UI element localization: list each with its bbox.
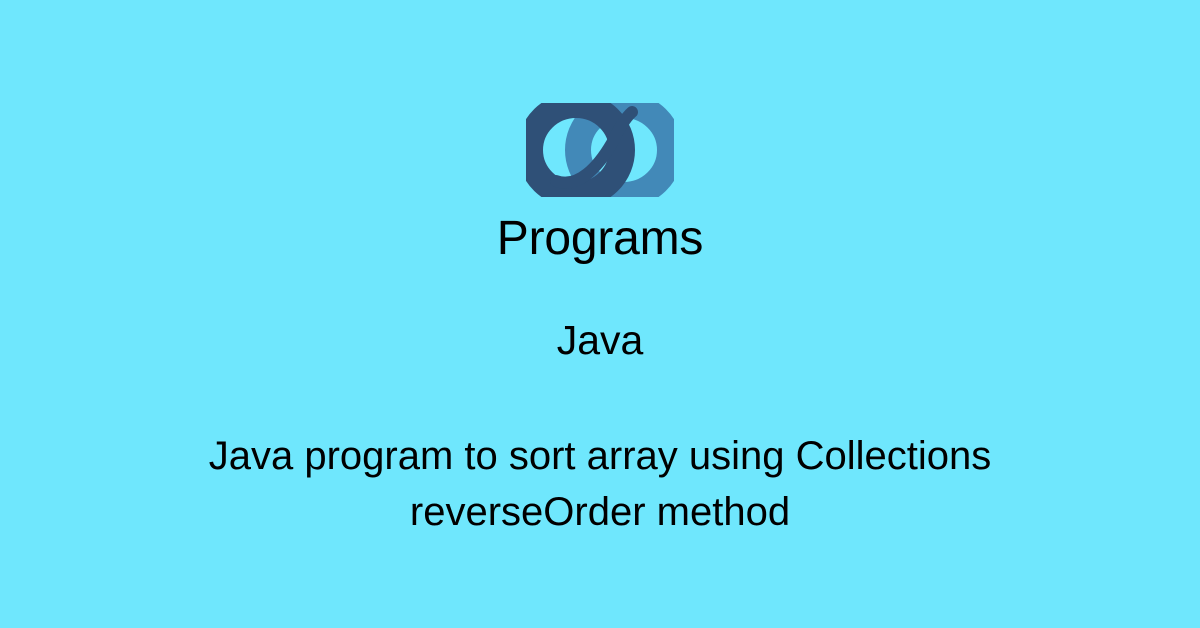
headline-line-1: Java program to sort array using Collect… xyxy=(60,428,1140,484)
social-share-card: Programs Java Java program to sort array… xyxy=(0,0,1200,628)
headline-line-2: reverseOrder method xyxy=(60,484,1140,540)
brand-title: Programs xyxy=(0,211,1200,267)
category-label: Java xyxy=(0,315,1200,365)
infinity-loop-logo-icon xyxy=(526,103,674,197)
headline: Java program to sort array using Collect… xyxy=(0,428,1200,540)
logo xyxy=(0,103,1200,197)
